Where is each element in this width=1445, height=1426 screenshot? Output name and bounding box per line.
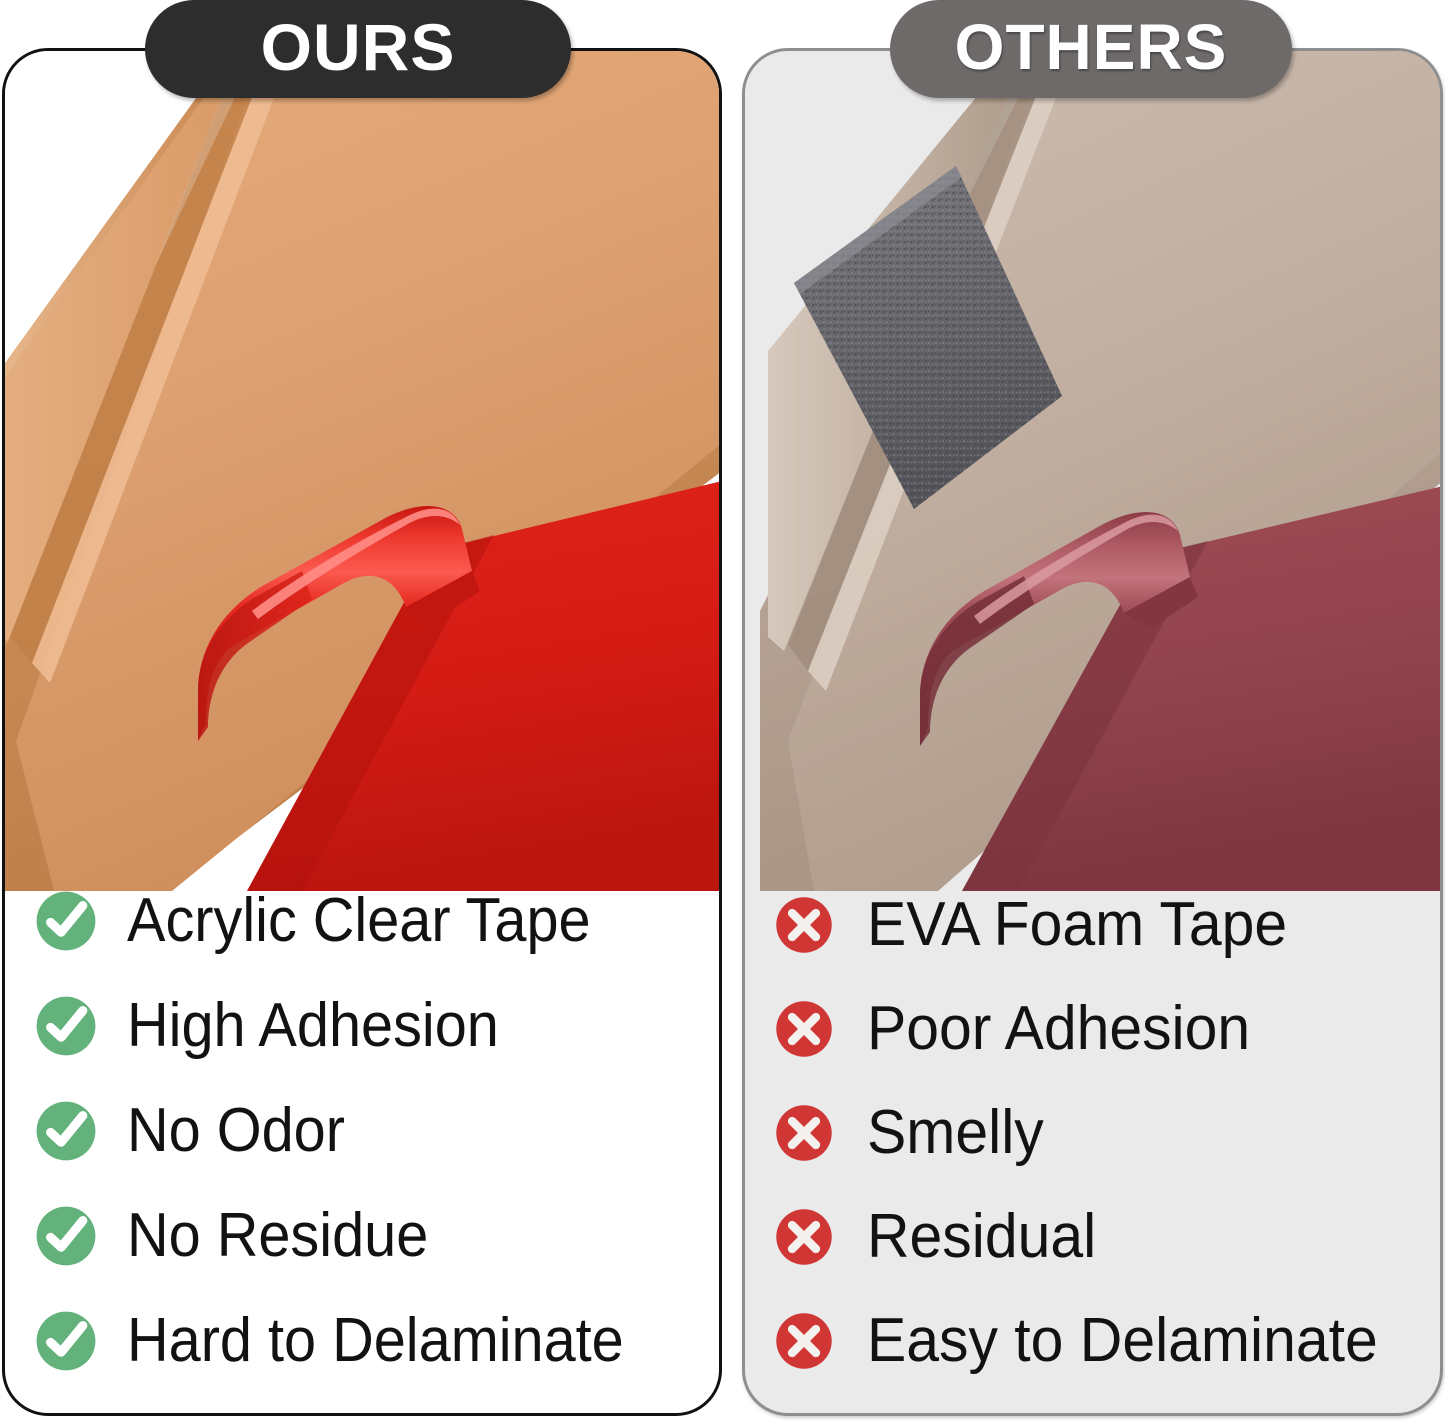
feature-row: No Odor — [31, 1078, 693, 1183]
others-badge-label: OTHERS — [955, 15, 1228, 79]
feature-row: No Residue — [31, 1183, 693, 1288]
feature-label: Easy to Delaminate — [867, 1309, 1378, 1372]
check-circle-icon — [31, 1306, 101, 1376]
check-circle-icon — [31, 1096, 101, 1166]
feature-label: High Adhesion — [127, 994, 499, 1057]
feature-label: Hard to Delaminate — [127, 1309, 624, 1372]
feature-label: Residual — [867, 1205, 1096, 1268]
feature-row: Residual — [771, 1185, 1414, 1289]
feature-row: EVA Foam Tape — [771, 873, 1414, 977]
eva-foam-tape-trim-illustration — [745, 51, 1440, 891]
feature-label: Smelly — [867, 1101, 1044, 1164]
acrylic-clear-tape-trim-illustration — [5, 51, 719, 891]
feature-row: High Adhesion — [31, 973, 693, 1078]
comparison-infographic: Acrylic Clear Tape High Adhesion — [0, 0, 1445, 1426]
ours-panel-inner: Acrylic Clear Tape High Adhesion — [5, 51, 719, 1413]
check-circle-icon — [31, 886, 101, 956]
check-circle-icon — [31, 1201, 101, 1271]
others-badge: OTHERS — [890, 0, 1292, 98]
ours-product-photo — [5, 51, 719, 891]
feature-label: Poor Adhesion — [867, 997, 1250, 1060]
cross-circle-icon — [771, 1100, 837, 1166]
ours-feature-list: Acrylic Clear Tape High Adhesion — [5, 868, 719, 1409]
others-panel-inner: EVA Foam Tape Poor Adhesion — [745, 51, 1440, 1413]
others-panel: EVA Foam Tape Poor Adhesion — [742, 48, 1443, 1416]
ours-badge-label: OURS — [261, 14, 456, 80]
feature-label: Acrylic Clear Tape — [127, 889, 591, 952]
cross-circle-icon — [771, 892, 837, 958]
cross-circle-icon — [771, 1204, 837, 1270]
ours-badge: OURS — [145, 0, 571, 98]
others-product-photo — [745, 51, 1440, 891]
feature-label: EVA Foam Tape — [867, 893, 1287, 956]
feature-label: No Odor — [127, 1099, 345, 1162]
feature-row: Acrylic Clear Tape — [31, 868, 693, 973]
cross-circle-icon — [771, 1308, 837, 1374]
check-circle-icon — [31, 991, 101, 1061]
feature-row: Poor Adhesion — [771, 977, 1414, 1081]
cross-circle-icon — [771, 996, 837, 1062]
feature-row: Hard to Delaminate — [31, 1288, 693, 1393]
others-feature-list: EVA Foam Tape Poor Adhesion — [745, 873, 1440, 1409]
ours-panel: Acrylic Clear Tape High Adhesion — [2, 48, 722, 1416]
feature-label: No Residue — [127, 1204, 428, 1267]
feature-row: Smelly — [771, 1081, 1414, 1185]
feature-row: Easy to Delaminate — [771, 1289, 1414, 1393]
